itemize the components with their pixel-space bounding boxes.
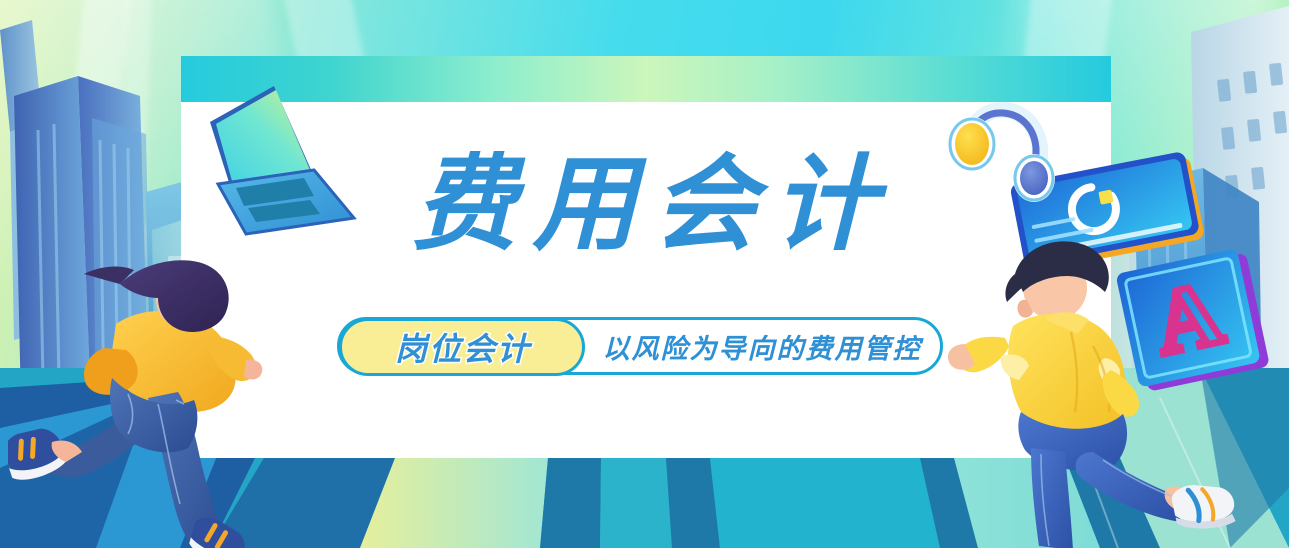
- subtitle-pill: 以风险为导向的费用管控 岗位会计: [337, 317, 943, 375]
- subtitle-tagline: 以风险为导向的费用管控: [596, 327, 926, 366]
- promo-banner: A: [0, 0, 1289, 548]
- headphones-icon: [948, 92, 1068, 222]
- role-badge-label: 岗位会计: [393, 324, 531, 370]
- running-man-illustration: [943, 222, 1243, 548]
- laptop-icon: [196, 78, 366, 243]
- role-badge: 岗位会计: [339, 318, 585, 376]
- running-woman-illustration: [8, 252, 308, 548]
